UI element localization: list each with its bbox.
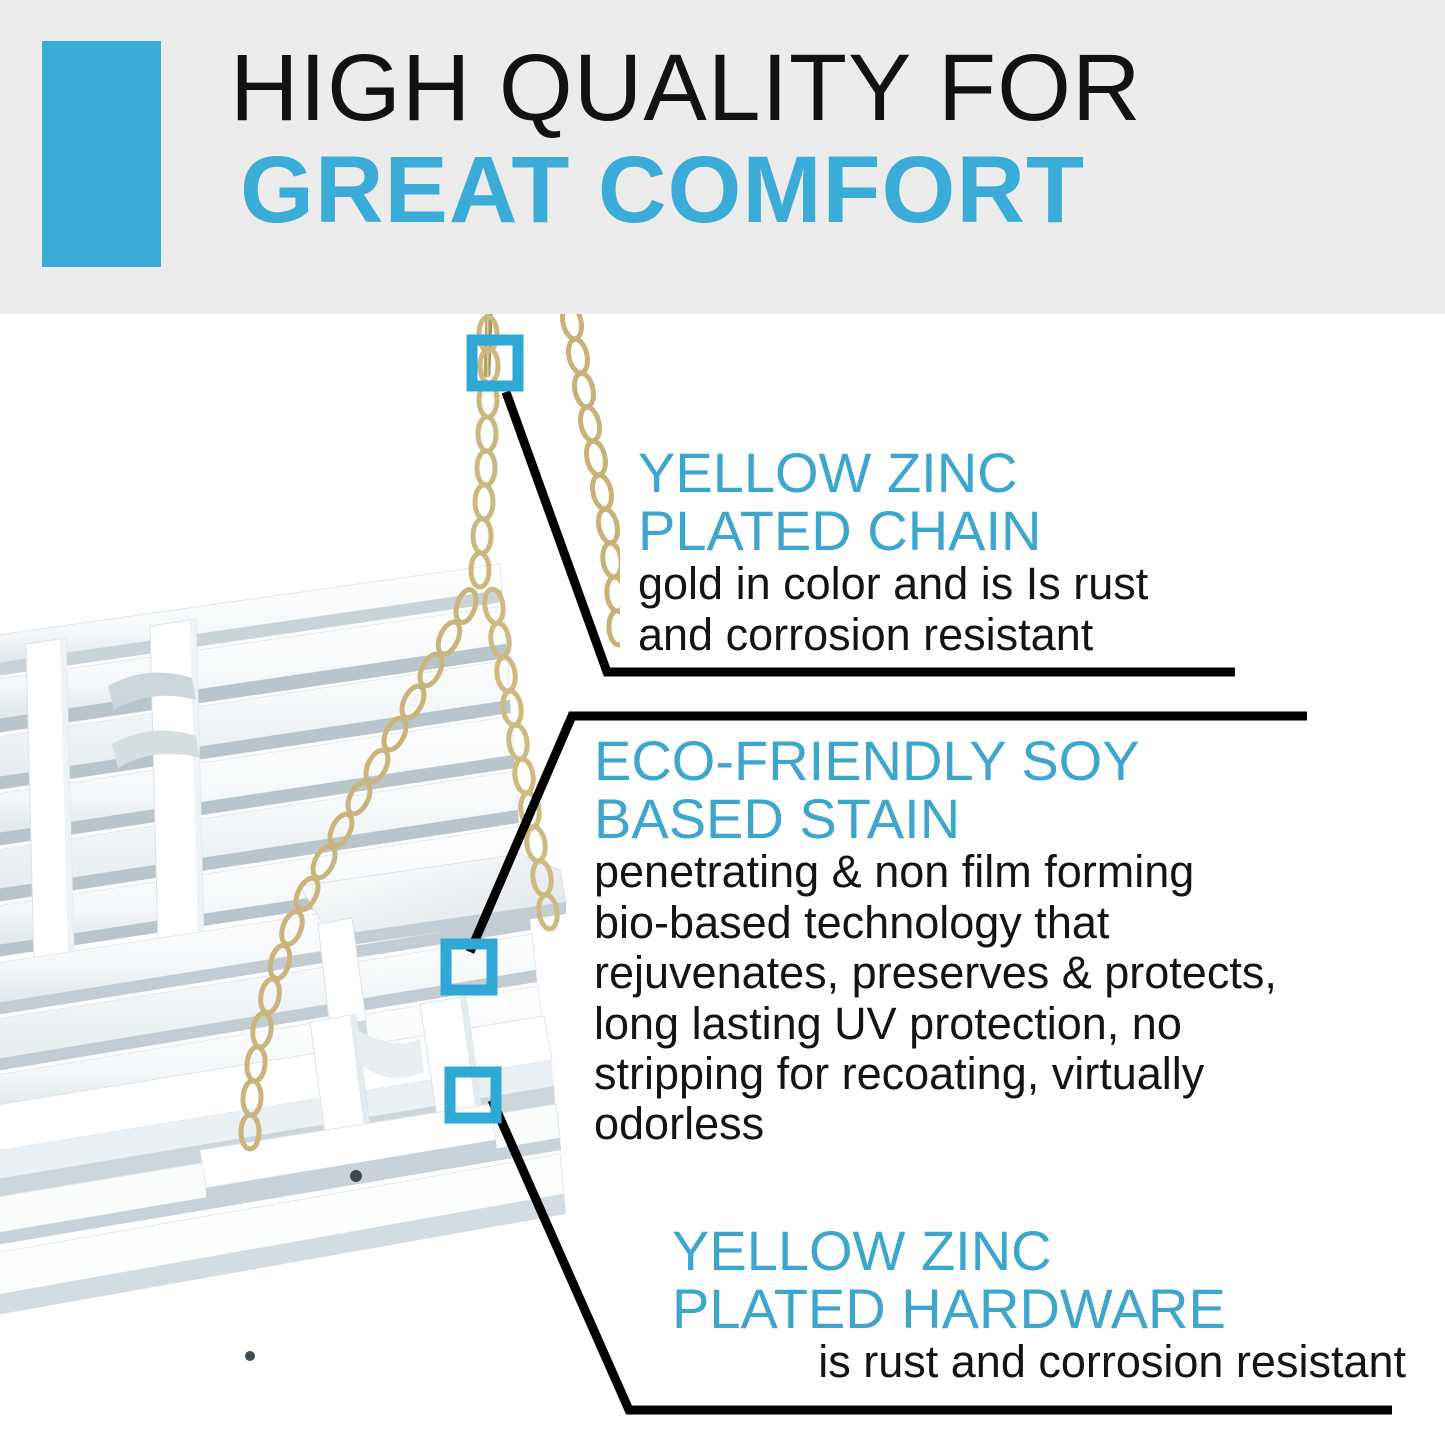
callout-chain: YELLOW ZINC PLATED CHAIN gold in color a… — [638, 444, 1278, 660]
infographic-page: HIGH QUALITY FOR GREAT COMFORT — [0, 0, 1445, 1445]
headline-block: HIGH QUALITY FOR GREAT COMFORT — [180, 38, 1430, 241]
callout-hardware: YELLOW ZINC PLATED HARDWARE is rust and … — [672, 1222, 1412, 1388]
callout-chain-title: YELLOW ZINC PLATED CHAIN — [638, 444, 1278, 559]
headline-secondary: GREAT COMFORT — [180, 140, 1430, 242]
callout-stain: ECO-FRIENDLY SOY BASED STAIN penetrating… — [594, 732, 1294, 1150]
callout-stain-title: ECO-FRIENDLY SOY BASED STAIN — [594, 732, 1294, 847]
callout-stain-body: penetrating & non film forming bio-based… — [594, 847, 1294, 1149]
product-photo — [0, 314, 620, 1445]
callout-hardware-title: YELLOW ZINC PLATED HARDWARE — [672, 1222, 1412, 1337]
callout-hardware-body: is rust and corrosion resistant — [672, 1337, 1412, 1387]
headline-primary: HIGH QUALITY FOR — [180, 38, 1430, 140]
callout-chain-body: gold in color and is Is rust and corrosi… — [638, 559, 1278, 660]
accent-bar — [42, 41, 161, 267]
header-banner: HIGH QUALITY FOR GREAT COMFORT — [0, 0, 1445, 314]
